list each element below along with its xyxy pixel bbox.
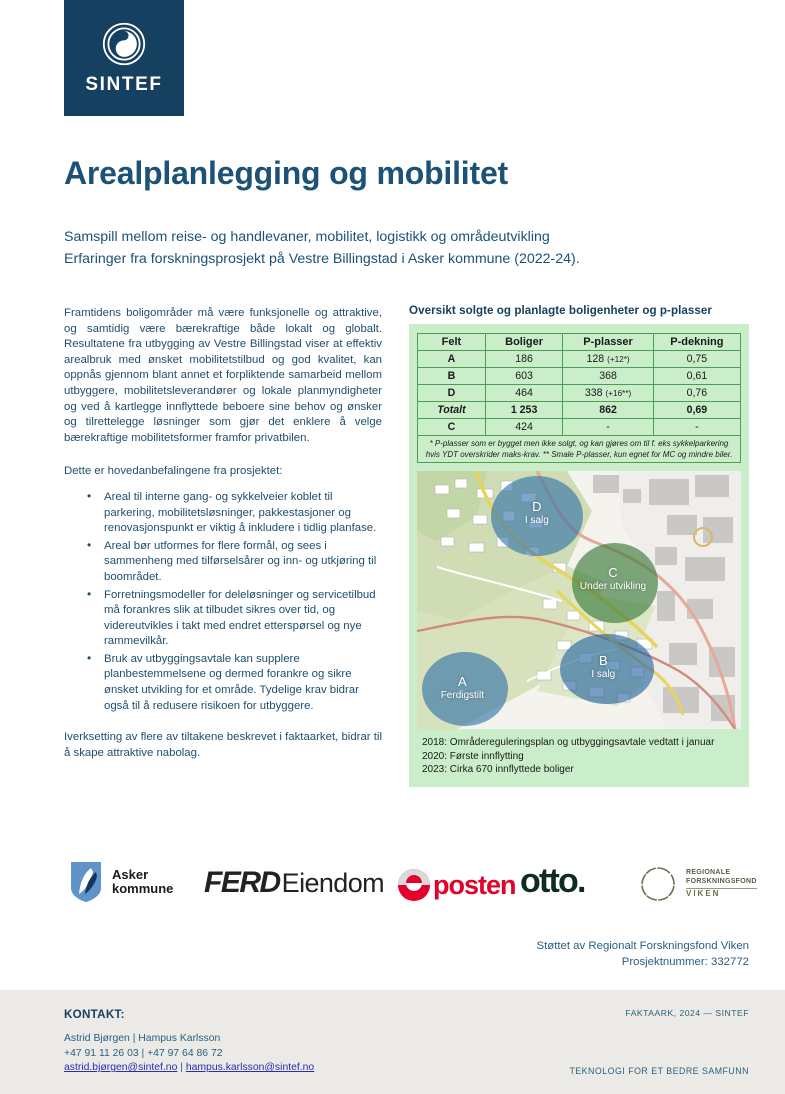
cell-boliger: 603 [485,368,563,385]
lead-paragraph: Framtidens boligområder må være funksjon… [64,306,382,446]
cell-pplasser: 338 (+16**) [563,385,653,402]
table-header-row: Felt Boliger P-plasser P-dekning [418,334,741,351]
posten-wordmark: posten [433,870,516,901]
timeline-item: 2023: Cirka 670 innflyttede boliger [422,763,741,777]
green-panel: Felt Boliger P-plasser P-dekning A 186 1… [409,324,749,787]
posten-circle-icon [397,868,431,902]
timeline-item: 2020: Første innflytting [422,750,741,764]
cell-boliger: 464 [485,385,563,402]
recommendations-list: Areal til interne gang- og sykkelveier k… [64,490,382,714]
column-header-pplasser: P-plasser [563,334,653,351]
cell-pplasser-total: 862 [563,402,653,419]
table-row: D 464 338 (+16**) 0,76 [418,385,741,402]
contact-names: Astrid Bjørgen | Hampus Karlsson [64,1032,314,1047]
contact-emails: astrid.bjørgen@sintef.no | hampus.karlss… [64,1061,314,1076]
timeline-item: 2018: Områdereguleringsplan og utbygging… [422,736,741,750]
cell-felt: C [418,419,486,436]
closing-paragraph: Iverksetting av flere av tiltakene beskr… [64,730,382,761]
cell-pplasser: 368 [563,368,653,385]
cell-pplasser-value: 368 [599,370,617,382]
sintef-tagline: TEKNOLOGI FOR ET BEDRE SAMFUNN [569,1066,749,1076]
column-header-boliger: Boliger [485,334,563,351]
table-footnote: * P-plasser som er bygget men ikke solgt… [418,436,741,463]
cell-felt: D [418,385,486,402]
rff-line-1: REGIONALE [686,869,757,878]
subtitle-line-1: Samspill mellom reise- og handlevaner, m… [64,226,744,248]
cell-felt: B [418,368,486,385]
otto-wordmark: otto. [520,862,585,901]
rff-line-2: FORSKNINGSFOND [686,878,757,887]
table-row: B 603 368 0,61 [418,368,741,385]
cell-pplasser: - [563,419,653,436]
list-item: Forretningsmodeller for deleløsninger og… [104,588,382,650]
support-note: Støttet av Regionalt Forskningsfond Vike… [536,938,749,970]
partner-logo-otto: otto. [520,862,585,901]
page-title: Arealplanlegging og mobilitet [64,155,508,192]
table-footnote-row: * P-plasser som er bygget men ikke solgt… [418,436,741,463]
cell-pplasser-value: 128 [586,353,604,365]
asker-line-2: kommune [112,882,173,897]
partner-logo-ferd-eiendom: FERD Eiendom [204,866,384,900]
kontakt-details: Astrid Bjørgen | Hampus Karlsson +47 91 … [64,1032,314,1076]
column-header-pdekning: P-dekning [653,334,740,351]
sintef-spiral-icon [101,21,147,67]
list-item: Areal bør utformes for flere formål, og … [104,539,382,586]
rff-line-3: VIKEN [686,888,757,899]
overview-panel-title: Oversikt solgte og planlagte boligenhete… [409,304,749,317]
cell-pdekning: 0,76 [653,385,740,402]
cell-pplasser: 128 (+12*) [563,351,653,368]
contact-phones: +47 91 11 26 03 | +47 97 64 86 72 [64,1047,314,1062]
ferd-wordmark: FERD [204,866,280,900]
cell-pplasser-value: 338 [585,387,603,399]
left-column: Framtidens boligområder må være funksjon… [64,306,382,761]
right-column: Oversikt solgte og planlagte boligenhete… [409,304,749,787]
partner-logos: Asker kommune FERD Eiendom posten otto. [64,852,754,916]
cell-boliger: 186 [485,351,563,368]
eiendom-wordmark: Eiendom [282,868,384,899]
sintef-wordmark: SINTEF [85,74,162,96]
cell-felt-total: Totalt [418,402,486,419]
page-subtitle: Samspill mellom reise- og handlevaner, m… [64,226,744,270]
cell-boliger-total: 1 253 [485,402,563,419]
email-link-hampus[interactable]: hampus.karlsson@sintef.no [186,1062,314,1073]
faktaark-label: FAKTAARK, 2024 — SINTEF [625,1008,749,1018]
partner-logo-asker-kommune: Asker kommune [69,860,173,904]
asker-shield-icon [69,860,103,904]
page-footer: KONTAKT: Astrid Bjørgen | Hampus Karlsso… [0,990,785,1094]
table-row: A 186 128 (+12*) 0,75 [418,351,741,368]
site-plan-map: D I salg C Under utvikling B I salg A Fe… [417,471,741,729]
recommendations-intro: Dette er hovedanbefalingene fra prosjekt… [64,464,382,480]
partner-logo-regionale-forskningsfond-viken: REGIONALE FORSKNINGSFOND VIKEN [638,864,757,904]
overview-table: Felt Boliger P-plasser P-dekning A 186 1… [417,333,741,463]
rff-wordmark: REGIONALE FORSKNINGSFOND VIKEN [686,869,757,899]
support-line-2: Prosjektnummer: 332772 [536,954,749,970]
email-link-astrid[interactable]: astrid.bjørgen@sintef.no [64,1062,177,1073]
cell-pplasser-suffix: (+16**) [606,389,632,398]
cell-boliger: 424 [485,419,563,436]
list-item: Bruk av utbyggingsavtale kan supplere pl… [104,652,382,714]
support-line-1: Støttet av Regionalt Forskningsfond Vike… [536,938,749,954]
column-header-felt: Felt [418,334,486,351]
rff-ring-icon [638,864,678,904]
cell-felt: A [418,351,486,368]
partner-logo-posten: posten [397,868,516,902]
cell-pplasser-suffix: (+12*) [607,355,630,364]
cell-pdekning-total: 0,69 [653,402,740,419]
asker-kommune-wordmark: Asker kommune [112,868,173,897]
subtitle-line-2: Erfaringer fra forskningsprosjekt på Ves… [64,248,744,270]
sintef-logo: SINTEF [64,0,184,116]
site-plan-map-graphic [417,471,741,729]
table-total-row: Totalt 1 253 862 0,69 [418,402,741,419]
map-timeline: 2018: Områdereguleringsplan og utbygging… [417,736,741,777]
cell-pdekning: - [653,419,740,436]
list-item: Areal til interne gang- og sykkelveier k… [104,490,382,537]
asker-line-1: Asker [112,868,173,883]
email-separator: | [180,1062,183,1073]
cell-pdekning: 0,75 [653,351,740,368]
kontakt-heading: KONTAKT: [64,1008,125,1021]
cell-pdekning: 0,61 [653,368,740,385]
table-row: C 424 - - [418,419,741,436]
